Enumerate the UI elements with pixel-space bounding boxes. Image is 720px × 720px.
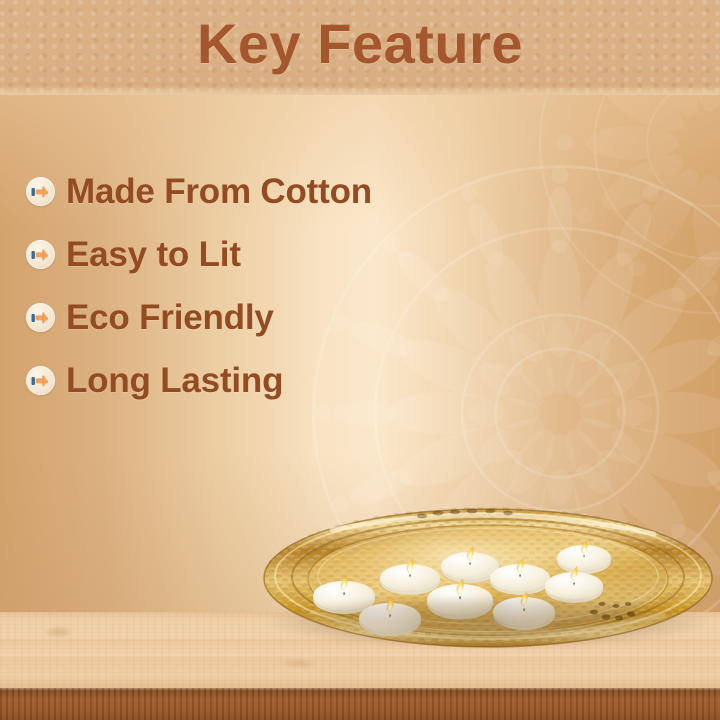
feature-item: Eco Friendly (26, 286, 586, 349)
pointing-right-hand-icon (26, 303, 55, 332)
product-photo (262, 500, 714, 656)
pointing-right-hand-icon (26, 177, 55, 206)
feature-banner: Key Feature Made From Cotton Easy (0, 0, 720, 720)
feature-item: Easy to Lit (26, 223, 586, 286)
wood-knot (282, 658, 316, 669)
feature-item: Long Lasting (26, 349, 586, 412)
feature-list: Made From Cotton Easy to Lit Eco Fri (26, 160, 586, 412)
feature-item-label: Easy to Lit (66, 236, 241, 274)
pointing-right-hand-icon (26, 366, 55, 395)
wooden-table-edge (0, 688, 720, 720)
wood-knot (44, 626, 74, 638)
page-title: Key Feature (0, 12, 720, 76)
feature-item-label: Made From Cotton (66, 173, 372, 211)
table-edge-grain (0, 688, 720, 720)
pointing-right-hand-icon (26, 240, 55, 269)
feature-item-label: Long Lasting (66, 362, 283, 400)
feature-item-label: Eco Friendly (66, 299, 274, 337)
feature-item: Made From Cotton (26, 160, 586, 223)
plate-drop-shadow (270, 596, 706, 648)
